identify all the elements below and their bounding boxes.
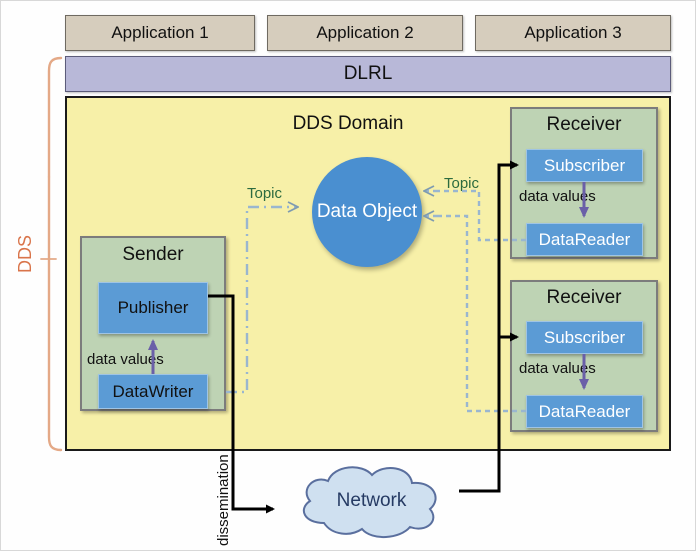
publisher-node[interactable]: Publisher <box>98 282 208 334</box>
diagram-canvas: Application 1 Application 2 Application … <box>0 0 696 551</box>
data-object-node[interactable]: Data Object <box>312 157 422 267</box>
topic-label-right: Topic <box>444 175 479 192</box>
subscriber-node-1[interactable]: Subscriber <box>526 149 643 182</box>
datawriter-node[interactable]: DataWriter <box>98 374 208 409</box>
datareader-label-1: DataReader <box>539 230 631 250</box>
publisher-label: Publisher <box>118 298 189 318</box>
subscriber-label-2: Subscriber <box>544 328 625 348</box>
receiver-1-data-values-label: data values <box>519 188 596 205</box>
dissemination-label: dissemination <box>215 454 232 546</box>
application-box-3[interactable]: Application 3 <box>475 15 671 51</box>
network-cloud[interactable]: Network <box>284 461 459 541</box>
receiver-title-1: Receiver <box>510 114 658 136</box>
subscriber-node-2[interactable]: Subscriber <box>526 321 643 354</box>
data-object-label: Data Object <box>317 201 417 223</box>
datawriter-label: DataWriter <box>113 382 194 402</box>
topic-label-left: Topic <box>247 185 282 202</box>
receiver-title-2: Receiver <box>510 287 658 309</box>
dds-bracket-label: DDS <box>15 235 36 273</box>
datareader-node-2[interactable]: DataReader <box>526 395 643 428</box>
application-label-1: Application 1 <box>111 23 208 43</box>
network-label: Network <box>284 490 459 512</box>
subscriber-label-1: Subscriber <box>544 156 625 176</box>
dlrl-label: DLRL <box>344 63 393 85</box>
datareader-node-1[interactable]: DataReader <box>526 223 643 256</box>
dlrl-layer-box[interactable]: DLRL <box>65 56 671 92</box>
sender-title: Sender <box>80 244 226 266</box>
sender-data-values-label: data values <box>87 351 164 368</box>
application-box-1[interactable]: Application 1 <box>65 15 255 51</box>
receiver-2-data-values-label: data values <box>519 360 596 377</box>
application-label-3: Application 3 <box>524 23 621 43</box>
datareader-label-2: DataReader <box>539 402 631 422</box>
application-label-2: Application 2 <box>316 23 413 43</box>
application-box-2[interactable]: Application 2 <box>267 15 463 51</box>
